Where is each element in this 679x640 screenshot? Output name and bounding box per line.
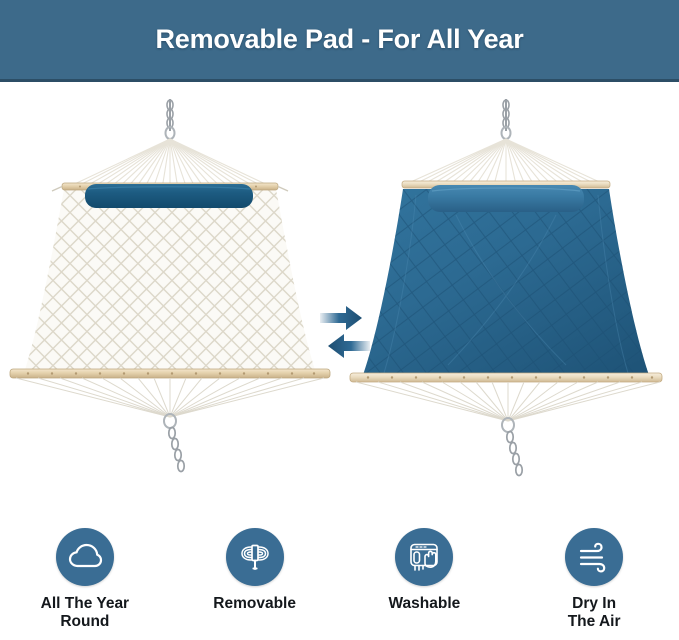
spreader-bar-bottom-right (350, 373, 662, 382)
feature-label: All The Year Round (41, 595, 129, 631)
hammock-pillow-left (85, 184, 253, 208)
feature-label: Washable (388, 595, 460, 613)
rope-net-left (12, 183, 332, 383)
top-chain-right (502, 99, 511, 139)
bottom-chain-right (502, 418, 522, 476)
rope-fan-bottom-left (16, 378, 324, 417)
hammock-pillow-right (428, 185, 584, 212)
quilted-pad (363, 189, 649, 375)
rope-fan-top-right (404, 139, 606, 185)
cloud-icon (56, 528, 114, 586)
product-comparison (0, 85, 679, 505)
top-chain-left (166, 99, 175, 139)
feature-item-washable: Washable (340, 528, 510, 640)
hammock-without-pad (2, 85, 338, 485)
feature-list: All The Year Round (0, 528, 679, 640)
hammock-with-pad (336, 85, 679, 485)
header-banner: Removable Pad - For All Year (0, 0, 679, 82)
feature-label: Removable (213, 595, 296, 613)
page-title: Removable Pad - For All Year (155, 24, 523, 55)
feature-label: Dry In The Air (568, 595, 621, 631)
zipper-icon (226, 528, 284, 586)
hand-wash-icon (395, 528, 453, 586)
arrow-right-icon (320, 306, 362, 330)
feature-item-dry-in-the-air: Dry In The Air (509, 528, 679, 640)
feature-item-removable: Removable (170, 528, 340, 640)
rope-fan-bottom-right (356, 382, 660, 421)
wind-icon (565, 528, 623, 586)
bottom-chain-left (164, 414, 184, 472)
spreader-bar-bottom-left (10, 369, 330, 378)
infographic-page: Removable Pad - For All Year (0, 0, 679, 640)
arrow-left-icon (328, 334, 370, 358)
rope-fan-top-left (64, 139, 276, 189)
swap-arrows (318, 303, 372, 365)
feature-item-all-year-round: All The Year Round (0, 528, 170, 640)
